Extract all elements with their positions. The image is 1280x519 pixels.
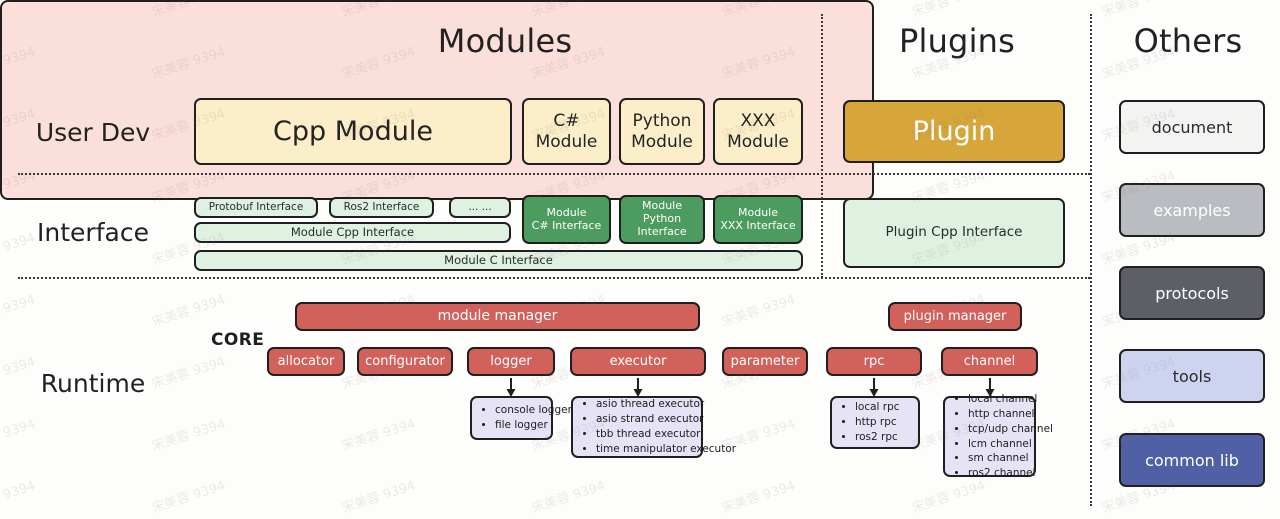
other-common-lib[interactable]: common lib: [1119, 433, 1265, 487]
divider-interface-runtime: [18, 277, 1090, 279]
rpc-implementations: local rpchttp rpcros2 rpc: [830, 396, 920, 449]
component-rpc[interactable]: rpc: [826, 347, 922, 376]
other-protocols[interactable]: protocols: [1119, 266, 1265, 320]
box-label-line2: Module: [631, 132, 693, 152]
user-dev-python-module[interactable]: Python Module: [619, 98, 705, 165]
watermark-text: 宋美蓉 9394: [0, 475, 37, 517]
box-label: Module Cpp Interface: [287, 226, 418, 240]
arrow-rpc: [867, 378, 881, 398]
watermark-text: 宋美蓉 9394: [339, 475, 417, 517]
list-item: http rpc: [855, 415, 912, 430]
box-label: Protobuf Interface: [205, 201, 308, 213]
box-label: common lib: [1145, 451, 1239, 470]
list-item: tcp/udp channel: [968, 422, 1028, 437]
watermark-text: 宋美蓉 9394: [149, 289, 227, 331]
list-item: local rpc: [855, 400, 912, 415]
list-item: time manipulator executor: [596, 442, 695, 457]
interface-plugin-cpp[interactable]: Plugin Cpp Interface: [843, 198, 1065, 268]
box-label: Module: [738, 206, 778, 219]
box-label: examples: [1153, 201, 1230, 220]
interface-module-c[interactable]: Module C Interface: [194, 250, 803, 271]
executor-list: asio thread executorasio strand executor…: [582, 397, 695, 457]
component-channel[interactable]: channel: [941, 347, 1038, 376]
box-label: allocator: [274, 354, 339, 369]
interface-ros2[interactable]: Ros2 Interface: [329, 197, 434, 218]
box-label-line2: Module: [536, 132, 598, 152]
watermark-text: 宋美蓉 9394: [0, 413, 37, 455]
watermark-text: 宋美蓉 9394: [149, 475, 227, 517]
row-label-interface: Interface: [8, 218, 178, 247]
watermark-text: 宋美蓉 9394: [339, 413, 417, 455]
component-allocator[interactable]: allocator: [267, 347, 345, 376]
logger-list: console loggerfile logger: [481, 403, 545, 433]
interface-module-python[interactable]: Module Python Interface: [619, 195, 705, 244]
interface-module-cpp[interactable]: Module Cpp Interface: [194, 222, 511, 243]
watermark-text: 宋美蓉 9394: [529, 475, 607, 517]
box-label: channel: [960, 354, 1019, 369]
box-label-line2: Module: [727, 132, 789, 152]
list-item: local channel: [968, 392, 1028, 407]
arrow-executor: [631, 378, 645, 398]
other-tools[interactable]: tools: [1119, 349, 1265, 403]
other-document[interactable]: document: [1119, 100, 1265, 154]
interface-protobuf[interactable]: Protobuf Interface: [194, 197, 318, 218]
box-label: Plugin: [909, 116, 1000, 148]
rpc-list: local rpchttp rpcros2 rpc: [841, 400, 912, 445]
box-label: Module C Interface: [440, 254, 557, 268]
list-item: ros2 channel: [968, 466, 1028, 481]
component-parameter[interactable]: parameter: [722, 347, 808, 376]
component-logger[interactable]: logger: [467, 347, 555, 376]
box-label: Cpp Module: [273, 116, 433, 147]
list-item: http channel: [968, 407, 1028, 422]
logger-implementations: console loggerfile logger: [470, 396, 553, 440]
list-item: file logger: [495, 418, 545, 433]
box-label: protocols: [1155, 284, 1229, 303]
row-label-runtime: Runtime: [8, 369, 178, 398]
watermark-text: 宋美蓉 9394: [909, 0, 987, 20]
list-item: tbb thread executor: [596, 427, 695, 442]
box-label: ... ...: [464, 201, 495, 213]
box-label: Module: [547, 206, 587, 219]
column-header-others: Others: [1098, 22, 1278, 60]
channel-implementations: local channelhttp channeltcp/udp channel…: [943, 396, 1036, 477]
list-item: sm channel: [968, 451, 1028, 466]
user-dev-xxx-module[interactable]: XXX Module: [713, 98, 803, 165]
column-header-modules: Modules: [190, 22, 820, 60]
interface-module-xxx[interactable]: Module XXX Interface: [713, 195, 803, 244]
list-item: asio thread executor: [596, 397, 695, 412]
row-label-user-dev: User Dev: [8, 118, 178, 147]
box-label: XXX: [741, 111, 776, 131]
divider-modules-plugins: [821, 14, 823, 278]
module-manager[interactable]: module manager: [295, 302, 700, 331]
watermark-text: 宋美蓉 9394: [719, 289, 797, 331]
box-label: parameter: [727, 354, 804, 369]
box-label: plugin manager: [900, 309, 1011, 324]
watermark-text: 宋美蓉 9394: [149, 413, 227, 455]
box-label: module manager: [434, 308, 562, 325]
watermark-text: 宋美蓉 9394: [1099, 0, 1177, 20]
box-label: executor: [606, 354, 671, 369]
user-dev-plugin[interactable]: Plugin: [843, 100, 1065, 163]
architecture-diagram: Modules Plugins Others User Dev Interfac…: [0, 0, 1280, 519]
list-item: asio strand executor: [596, 412, 695, 427]
interface-more[interactable]: ... ...: [449, 197, 511, 218]
box-label-line2: XXX Interface: [720, 220, 795, 233]
box-label: Module: [642, 199, 682, 212]
box-label: C#: [553, 111, 579, 131]
component-executor[interactable]: executor: [570, 347, 706, 376]
divider-plugins-others: [1090, 14, 1092, 506]
box-label-line2: C# Interface: [532, 220, 602, 233]
watermark-text: 宋美蓉 9394: [719, 475, 797, 517]
watermark-text: 宋美蓉 9394: [0, 289, 37, 331]
divider-user-dev-interface: [18, 173, 1090, 175]
component-configurator[interactable]: configurator: [357, 347, 453, 376]
interface-module-csharp[interactable]: Module C# Interface: [522, 195, 611, 244]
box-label: configurator: [361, 354, 449, 369]
box-label: Plugin Cpp Interface: [882, 225, 1027, 241]
box-label: rpc: [860, 354, 889, 369]
column-header-plugins: Plugins: [832, 22, 1082, 60]
box-label: tools: [1173, 367, 1212, 386]
core-title: CORE: [211, 330, 264, 350]
executor-implementations: asio thread executorasio strand executor…: [571, 396, 703, 458]
arrow-channel: [983, 378, 997, 398]
arrow-logger: [504, 378, 518, 398]
channel-list: local channelhttp channeltcp/udp channel…: [954, 392, 1028, 481]
user-dev-csharp-module[interactable]: C# Module: [522, 98, 611, 165]
list-item: ros2 rpc: [855, 430, 912, 445]
user-dev-cpp-module[interactable]: Cpp Module: [194, 98, 512, 165]
box-label: document: [1152, 118, 1233, 137]
plugin-manager[interactable]: plugin manager: [888, 302, 1022, 331]
list-item: console logger: [495, 403, 545, 418]
other-examples[interactable]: examples: [1119, 183, 1265, 237]
box-label: Ros2 Interface: [340, 201, 424, 213]
box-label: logger: [486, 354, 535, 369]
box-label: Python: [633, 111, 692, 131]
list-item: lcm channel: [968, 437, 1028, 452]
box-label-line2: Python Interface: [625, 213, 699, 239]
